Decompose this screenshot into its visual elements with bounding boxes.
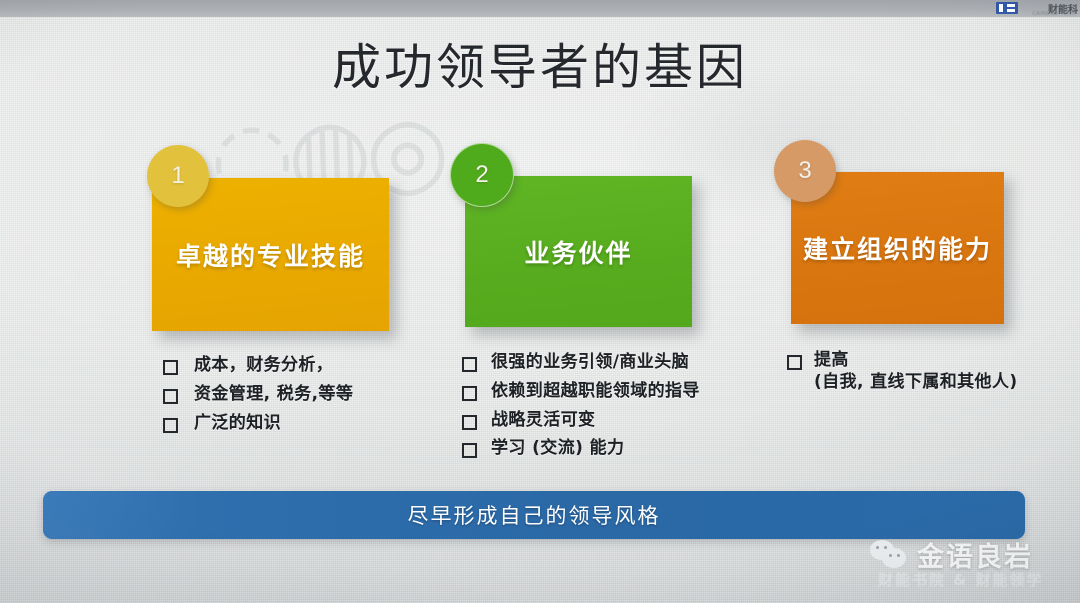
- bullet-text: 资金管理, 税务,等等: [194, 384, 353, 406]
- page-title: 成功领导者的基因: [0, 28, 1080, 99]
- bullet-text: 战略灵活可变: [491, 410, 595, 432]
- checkbox-square-icon: [462, 357, 477, 372]
- badge-number-2: 2: [475, 161, 488, 189]
- list-item: 很强的业务引领/商业头脑: [462, 352, 700, 374]
- list-item: 广泛的知识: [163, 413, 353, 435]
- footer-banner-text: 尽早形成自己的领导风格: [408, 500, 661, 530]
- category-badge-3: 3: [774, 140, 836, 202]
- bullet-text: 广泛的知识: [194, 413, 281, 435]
- wechat-eye-dot: [876, 546, 879, 549]
- wechat-bubble-small: [882, 548, 906, 568]
- brand-subtitle: CAINENG TECH: [1032, 11, 1076, 17]
- list-item: 提高 (自我, 直线下属和其他人): [787, 350, 1018, 394]
- checkbox-square-icon: [163, 418, 178, 433]
- list-item: 资金管理, 税务,等等: [163, 384, 353, 406]
- wechat-eye-dot: [884, 546, 887, 549]
- wechat-eye-dot: [889, 554, 892, 557]
- wechat-icon: [870, 540, 908, 570]
- bullet-list-1: 成本，财务分析， 资金管理, 税务,等等 广泛的知识: [163, 355, 353, 441]
- list-item: 成本，财务分析，: [163, 355, 353, 377]
- footer-banner: 尽早形成自己的领导风格: [43, 491, 1025, 539]
- bullet-subtext: (自我, 直线下属和其他人): [814, 372, 1018, 394]
- slide-photo: ◌◍◎ 财能科 CAINENG TECH 成功领导者的基因 卓越的专业技能 1 …: [0, 0, 1080, 603]
- cn-logo-icon: [996, 2, 1018, 14]
- bullet-list-2: 很强的业务引领/商业头脑 依赖到超越职能领域的指导 战略灵活可变 学习 (交流)…: [462, 352, 700, 467]
- category-heading-1: 卓越的专业技能: [176, 237, 365, 273]
- category-badge-1: 1: [147, 145, 209, 207]
- bullet-text: 学习 (交流) 能力: [491, 438, 624, 460]
- bullet-text-wrap: 提高 (自我, 直线下属和其他人): [814, 350, 1018, 394]
- list-item: 依赖到超越职能领域的指导: [462, 381, 700, 403]
- watermark-subtitle: 财能书院 & 财能领学: [878, 569, 1044, 590]
- bullet-text: 依赖到超越职能领域的指导: [491, 381, 700, 403]
- checkbox-square-icon: [163, 389, 178, 404]
- category-heading-3: 建立组织的能力: [803, 230, 992, 266]
- list-item: 战略灵活可变: [462, 410, 700, 432]
- bullet-text: 很强的业务引领/商业头脑: [491, 352, 689, 374]
- category-heading-2: 业务伙伴: [524, 234, 632, 270]
- list-item: 学习 (交流) 能力: [462, 438, 700, 460]
- bullet-text: 提高: [814, 350, 849, 370]
- checkbox-square-icon: [462, 443, 477, 458]
- category-badge-2: 2: [450, 143, 514, 207]
- checkbox-square-icon: [163, 360, 178, 375]
- bullet-list-3: 提高 (自我, 直线下属和其他人): [787, 350, 1018, 401]
- badge-number-1: 1: [171, 162, 184, 190]
- checkbox-square-icon: [462, 415, 477, 430]
- top-chrome-strip: 财能科 CAINENG TECH: [0, 0, 1080, 17]
- watermark: 金语良岩 财能书院 & 财能领学: [858, 533, 1074, 595]
- checkbox-square-icon: [462, 386, 477, 401]
- wechat-eye-dot: [897, 554, 900, 557]
- checkbox-square-icon: [787, 355, 802, 370]
- bullet-text: 成本，财务分析，: [194, 355, 333, 377]
- badge-number-3: 3: [798, 157, 811, 185]
